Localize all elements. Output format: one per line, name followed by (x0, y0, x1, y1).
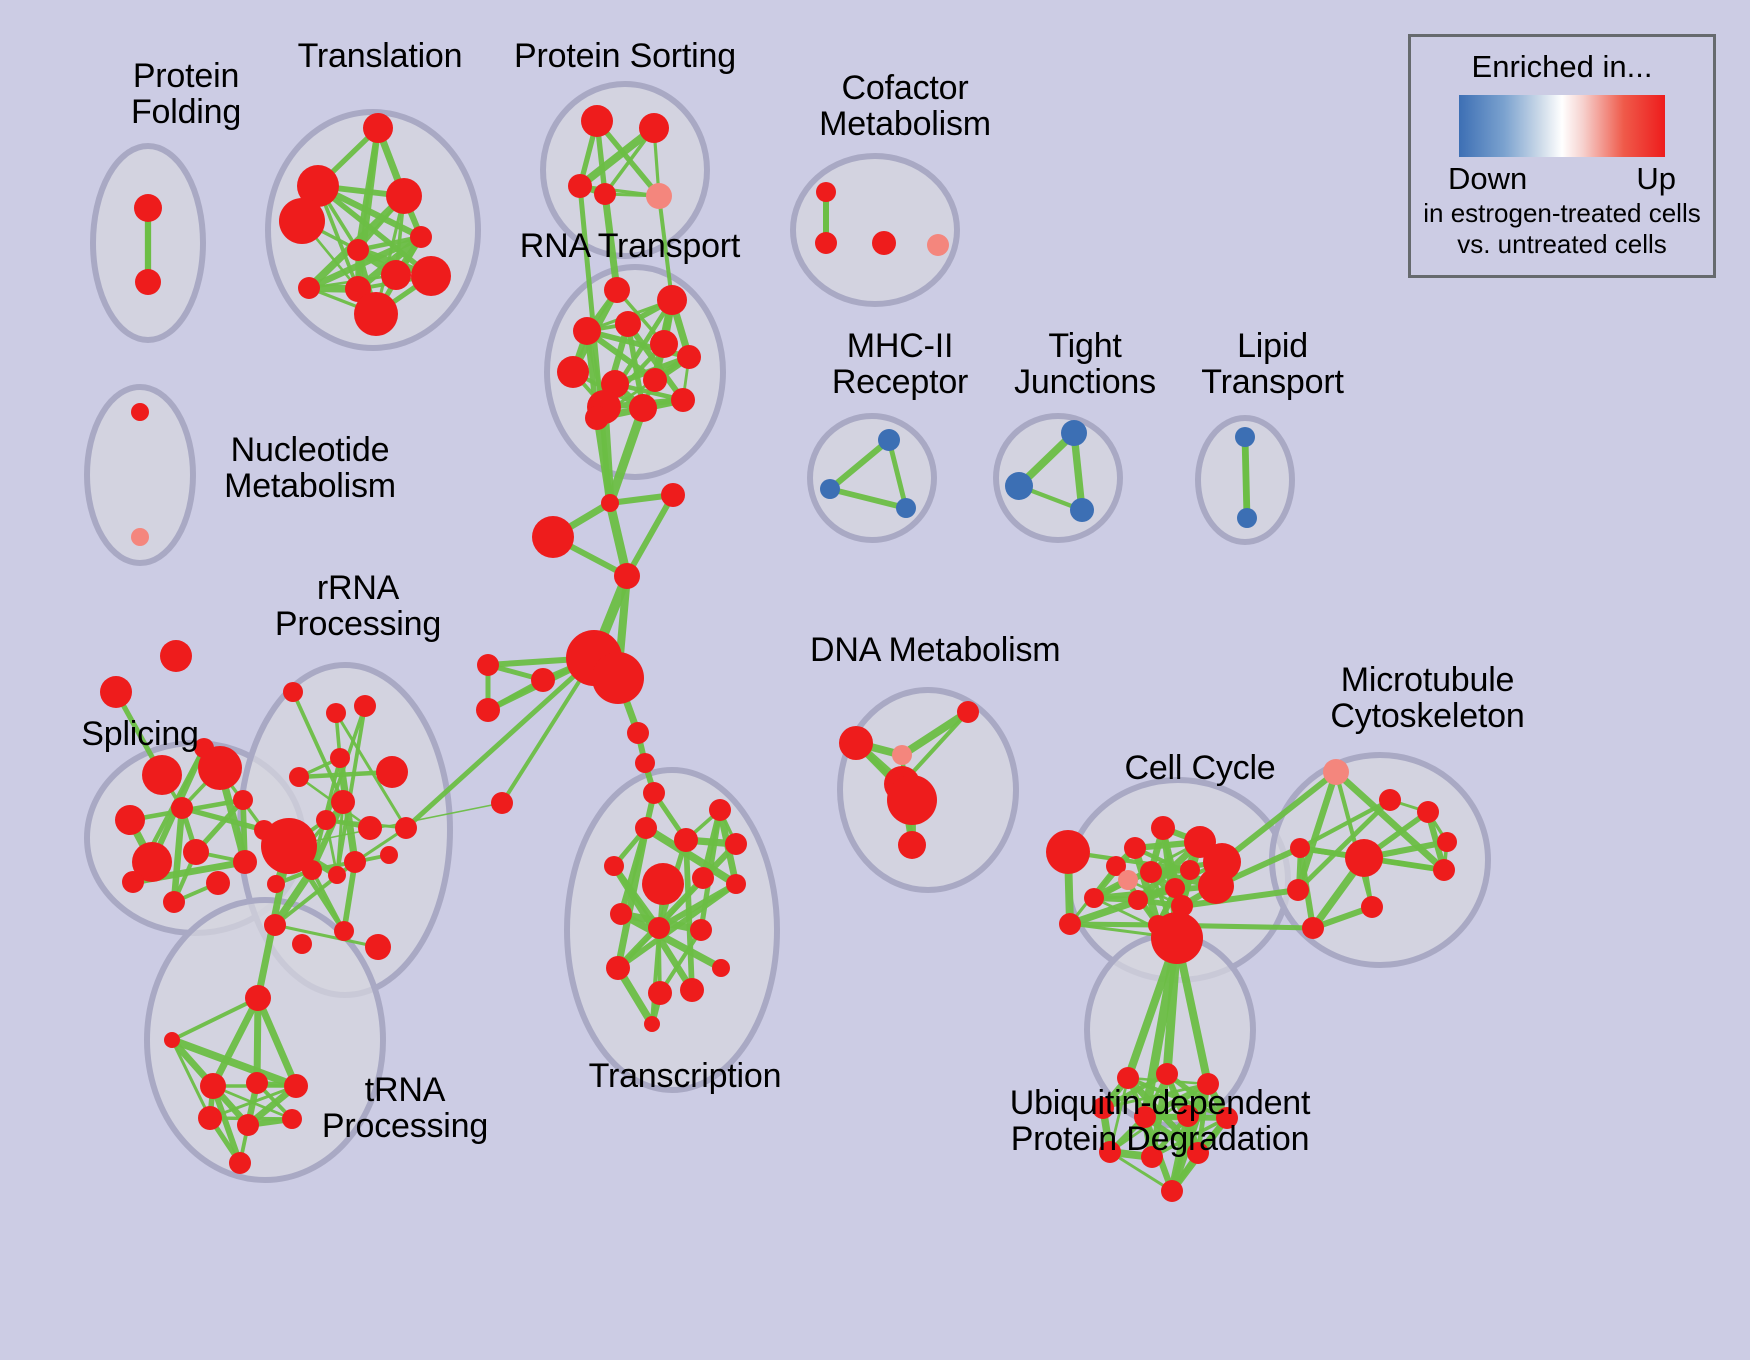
cluster-label-protein-sorting: Protein Sorting (500, 38, 750, 74)
network-node[interactable] (1151, 816, 1175, 840)
network-node[interactable] (726, 874, 746, 894)
network-node[interactable] (1437, 832, 1457, 852)
network-node[interactable] (1237, 508, 1257, 528)
network-node[interactable] (282, 1109, 302, 1129)
network-node[interactable] (344, 851, 366, 873)
network-node[interactable] (887, 775, 937, 825)
network-node[interactable] (1084, 888, 1104, 908)
legend-subtitle-line2: vs. untreated cells (1457, 230, 1667, 259)
network-node[interactable] (134, 194, 162, 222)
network-node[interactable] (627, 722, 649, 744)
network-node[interactable] (410, 226, 432, 248)
edge (627, 495, 673, 576)
network-node[interactable] (206, 871, 230, 895)
network-node[interactable] (581, 105, 613, 137)
legend-subtitle-line1: in estrogen-treated cells (1423, 199, 1700, 228)
cluster-label-tight-junctions: Tight Junctions (990, 328, 1180, 400)
network-node[interactable] (246, 1072, 268, 1094)
network-node[interactable] (330, 748, 350, 768)
network-node[interactable] (1124, 837, 1146, 859)
legend-up-label: Up (1636, 161, 1676, 197)
network-node[interactable] (200, 1073, 226, 1099)
network-node[interactable] (635, 817, 657, 839)
network-node[interactable] (354, 292, 398, 336)
network-node[interactable] (674, 828, 698, 852)
network-node[interactable] (198, 746, 242, 790)
network-node[interactable] (183, 839, 209, 865)
network-node[interactable] (292, 934, 312, 954)
cluster-label-microtubule-cytoskeleton: Microtubule Cytoskeleton (1305, 662, 1550, 734)
network-node[interactable] (532, 516, 574, 558)
network-node[interactable] (1118, 870, 1138, 890)
network-node[interactable] (160, 640, 192, 672)
cluster-hull-mhc-ii-receptor (810, 416, 934, 540)
cluster-label-translation: Translation (280, 38, 480, 74)
network-node[interactable] (839, 726, 873, 760)
legend-box: Enriched in... Down Up in estrogen-treat… (1408, 34, 1716, 278)
network-node[interactable] (648, 917, 670, 939)
cluster-label-trna-processing: tRNA Processing (305, 1072, 505, 1144)
cluster-label-cell-cycle: Cell Cycle (1105, 750, 1295, 786)
network-node[interactable] (298, 277, 320, 299)
cluster-label-rrna-processing: rRNA Processing (253, 570, 463, 642)
network-node[interactable] (198, 1106, 222, 1130)
network-node[interactable] (610, 903, 632, 925)
network-node[interactable] (1070, 498, 1094, 522)
network-node[interactable] (709, 799, 731, 821)
network-node[interactable] (100, 676, 132, 708)
network-node[interactable] (171, 797, 193, 819)
cluster-label-lipid-transport: Lipid Transport (1175, 328, 1370, 400)
cluster-label-protein-folding: Protein Folding (86, 58, 286, 130)
legend-down-label: Down (1448, 161, 1527, 197)
network-node[interactable] (892, 745, 912, 765)
network-node[interactable] (644, 1016, 660, 1032)
network-node[interactable] (712, 959, 730, 977)
network-node[interactable] (606, 956, 630, 980)
network-node[interactable] (1287, 879, 1309, 901)
edge (1245, 437, 1247, 518)
network-node[interactable] (573, 317, 601, 345)
network-node[interactable] (142, 755, 182, 795)
cluster-label-mhc-ii-receptor: MHC-II Receptor (800, 328, 1000, 400)
network-node[interactable] (927, 234, 949, 256)
network-node[interactable] (380, 846, 398, 864)
network-node[interactable] (878, 429, 900, 451)
network-node[interactable] (233, 850, 257, 874)
network-node[interactable] (245, 985, 271, 1011)
network-node[interactable] (283, 682, 303, 702)
network-node[interactable] (131, 403, 149, 421)
network-node[interactable] (815, 232, 837, 254)
legend-gradient-bar (1459, 95, 1665, 157)
network-node[interactable] (957, 701, 979, 723)
network-node[interactable] (643, 368, 667, 392)
network-node[interactable] (594, 183, 616, 205)
network-node[interactable] (1235, 427, 1255, 447)
network-node[interactable] (568, 174, 592, 198)
network-node[interactable] (1379, 789, 1401, 811)
network-node[interactable] (1005, 472, 1033, 500)
network-node[interactable] (316, 810, 336, 830)
network-node[interactable] (1417, 801, 1439, 823)
network-node[interactable] (657, 285, 687, 315)
network-node[interactable] (233, 790, 253, 810)
network-node[interactable] (1161, 1180, 1183, 1202)
network-node[interactable] (677, 345, 701, 369)
network-node[interactable] (671, 388, 695, 412)
network-node[interactable] (872, 231, 896, 255)
network-node[interactable] (635, 753, 655, 773)
network-node[interactable] (820, 479, 840, 499)
network-node[interactable] (629, 394, 657, 422)
network-node[interactable] (1302, 917, 1324, 939)
network-node[interactable] (1046, 830, 1090, 874)
network-node[interactable] (661, 483, 685, 507)
network-node[interactable] (896, 498, 916, 518)
network-node[interactable] (648, 981, 672, 1005)
network-node[interactable] (646, 183, 672, 209)
network-node[interactable] (1140, 861, 1162, 883)
network-node[interactable] (334, 921, 354, 941)
network-node[interactable] (1361, 896, 1383, 918)
network-node[interactable] (601, 494, 619, 512)
network-node[interactable] (1061, 420, 1087, 446)
network-node[interactable] (680, 978, 704, 1002)
network-node[interactable] (1290, 838, 1310, 858)
network-node[interactable] (491, 792, 513, 814)
network-node[interactable] (898, 831, 926, 859)
network-node[interactable] (115, 805, 145, 835)
network-node[interactable] (302, 860, 322, 880)
network-node[interactable] (381, 260, 411, 290)
network-node[interactable] (585, 406, 609, 430)
network-node[interactable] (386, 178, 422, 214)
network-node[interactable] (1433, 859, 1455, 881)
network-node[interactable] (264, 914, 286, 936)
cluster-label-nucleotide-metabolism: Nucleotide Metabolism (195, 432, 425, 504)
network-node[interactable] (615, 311, 641, 337)
network-node[interactable] (331, 790, 355, 814)
network-node[interactable] (411, 256, 451, 296)
cluster-label-splicing: Splicing (60, 716, 220, 752)
network-node[interactable] (279, 198, 325, 244)
network-node[interactable] (164, 1032, 180, 1048)
network-node[interactable] (1128, 890, 1148, 910)
cluster-label-ubiquitin-degradation: Ubiquitin-dependent Protein Degradation (990, 1085, 1330, 1157)
network-node[interactable] (816, 182, 836, 202)
network-node[interactable] (1345, 839, 1383, 877)
network-node[interactable] (267, 875, 285, 893)
network-node[interactable] (358, 816, 382, 840)
cluster-hull-cofactor-metabolism (793, 156, 957, 304)
cluster-label-transcription: Transcription (570, 1058, 800, 1094)
network-node[interactable] (1323, 759, 1349, 785)
network-node[interactable] (643, 782, 665, 804)
network-node[interactable] (131, 528, 149, 546)
network-node[interactable] (477, 654, 499, 676)
network-node[interactable] (229, 1152, 251, 1174)
network-node[interactable] (1151, 912, 1203, 964)
network-node[interactable] (363, 113, 393, 143)
network-node[interactable] (237, 1114, 259, 1136)
network-node[interactable] (395, 817, 417, 839)
network-node[interactable] (642, 863, 684, 905)
network-node[interactable] (1198, 868, 1234, 904)
cluster-label-rna-transport: RNA Transport (510, 228, 750, 264)
cluster-label-dna-metabolism: DNA Metabolism (810, 632, 1060, 668)
network-node[interactable] (604, 856, 624, 876)
network-node[interactable] (650, 330, 678, 358)
network-node[interactable] (328, 866, 346, 884)
network-node[interactable] (592, 652, 644, 704)
network-node[interactable] (692, 867, 714, 889)
network-node[interactable] (1156, 1063, 1178, 1085)
network-node[interactable] (289, 767, 309, 787)
network-node[interactable] (476, 698, 500, 722)
network-node[interactable] (354, 695, 376, 717)
network-node[interactable] (557, 356, 589, 388)
network-node[interactable] (639, 113, 669, 143)
network-node[interactable] (347, 239, 369, 261)
network-node[interactable] (376, 756, 408, 788)
network-node[interactable] (1059, 913, 1081, 935)
network-node[interactable] (365, 934, 391, 960)
network-node[interactable] (1180, 860, 1200, 880)
network-node[interactable] (725, 833, 747, 855)
network-node[interactable] (122, 871, 144, 893)
network-figure: Enriched in... Down Up in estrogen-treat… (0, 0, 1750, 1360)
network-node[interactable] (531, 668, 555, 692)
cluster-label-cofactor-metabolism: Cofactor Metabolism (795, 70, 1015, 142)
network-node[interactable] (690, 919, 712, 941)
legend-title: Enriched in... (1472, 49, 1653, 85)
network-node[interactable] (163, 891, 185, 913)
network-node[interactable] (326, 703, 346, 723)
network-node[interactable] (604, 277, 630, 303)
network-node[interactable] (614, 563, 640, 589)
network-node[interactable] (135, 269, 161, 295)
